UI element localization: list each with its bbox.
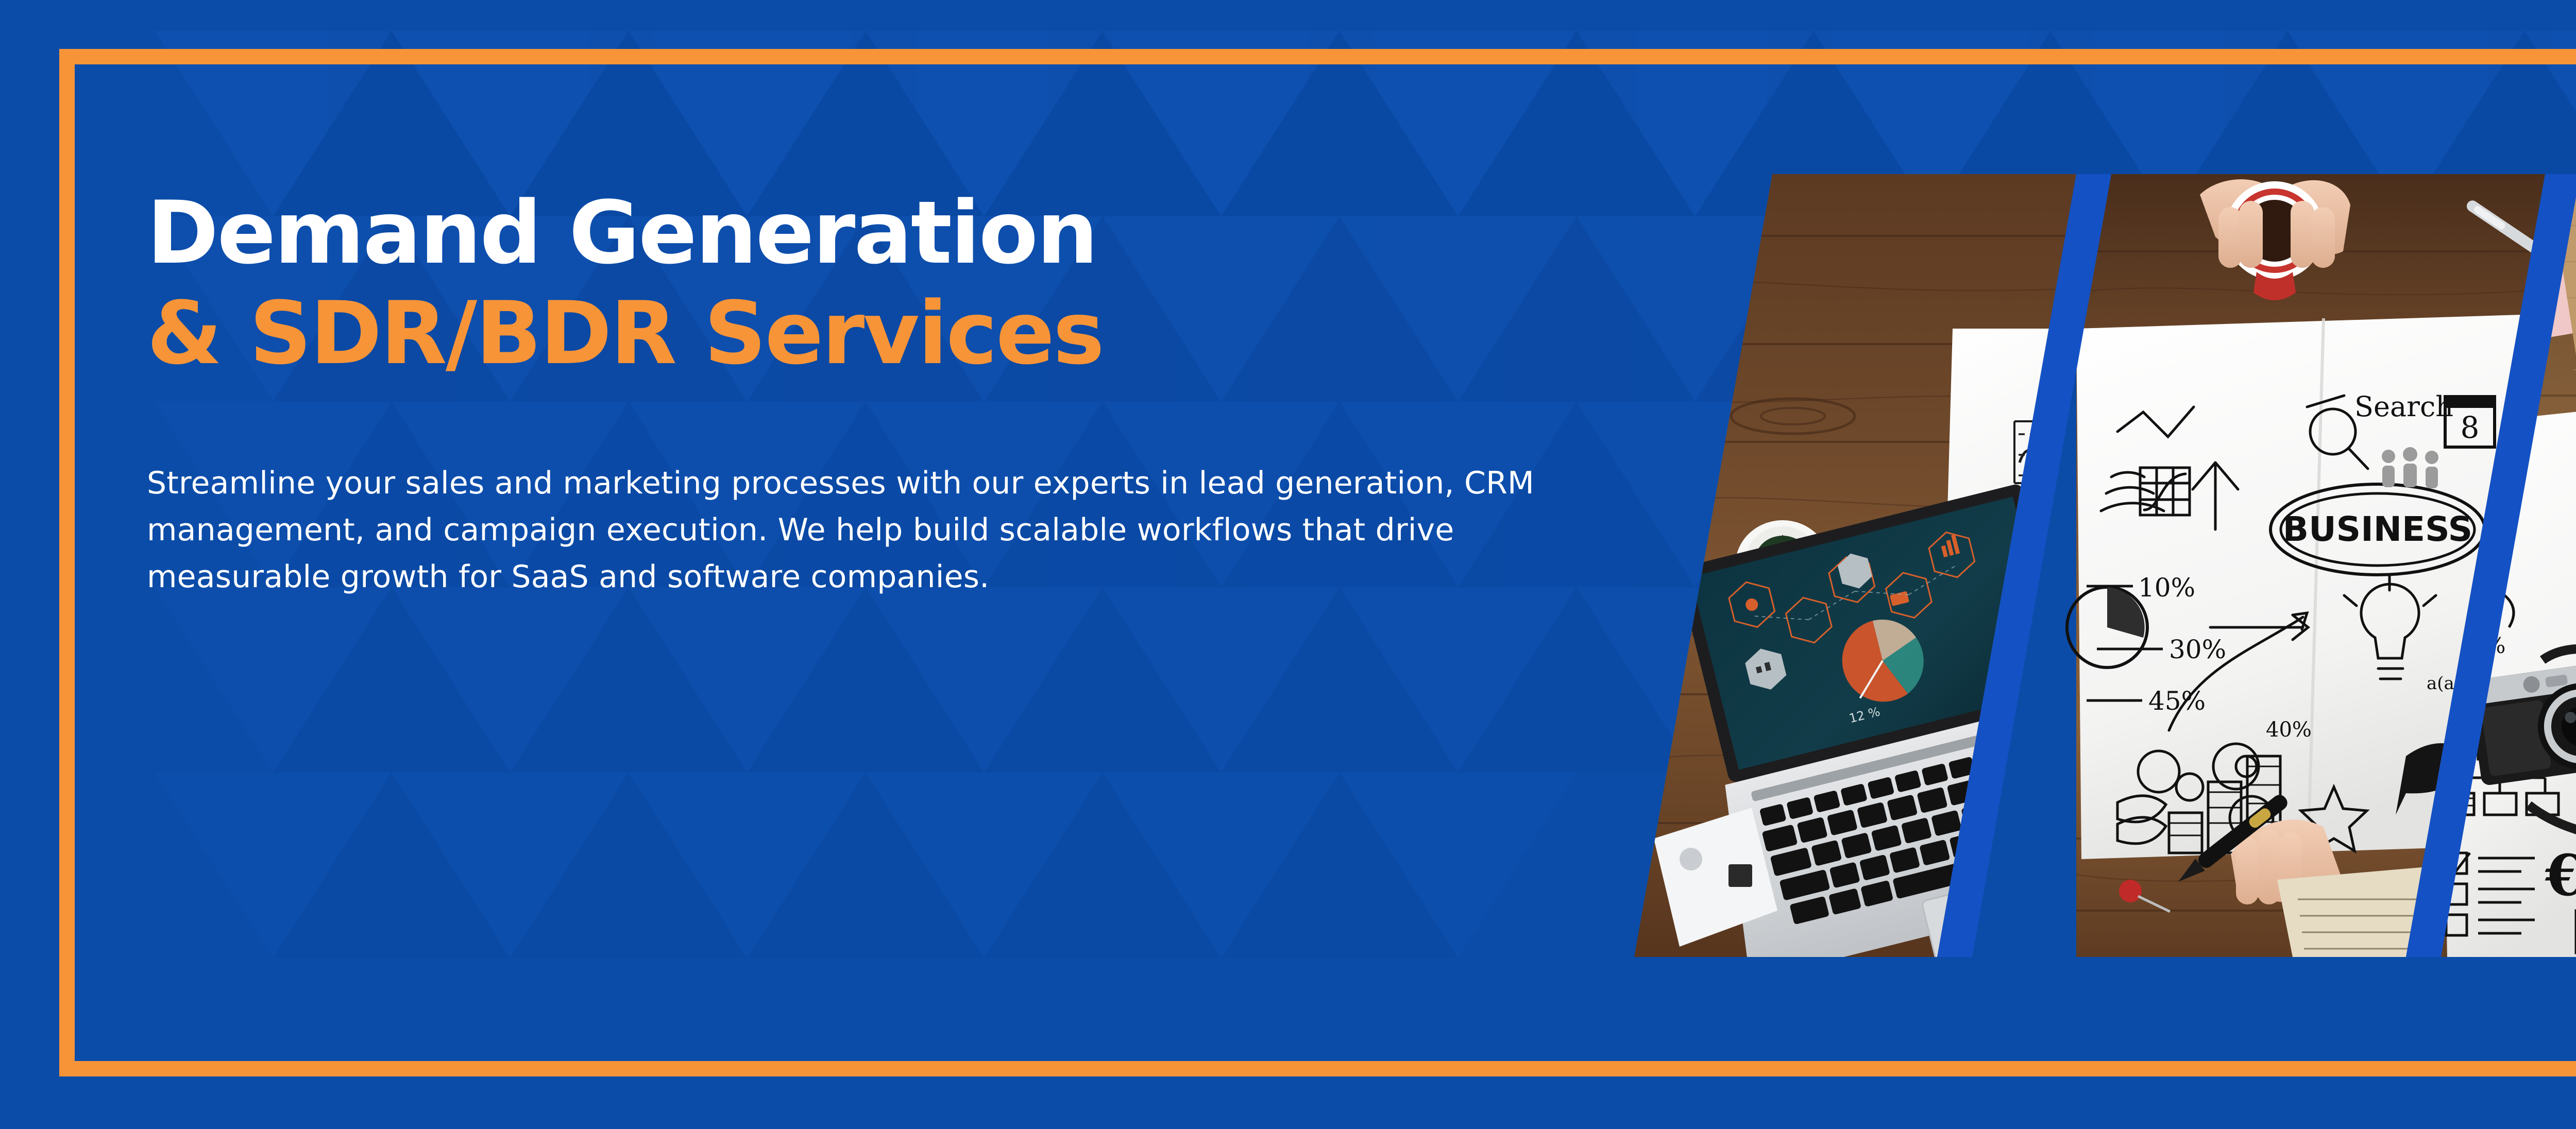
doodle-label-45pct: 45% <box>2148 686 2206 716</box>
people-icon <box>2382 447 2438 488</box>
doodle-label-30pct: 30% <box>2169 635 2226 664</box>
hero-text-column: Demand Generation & SDR/BDR Services Str… <box>147 183 1641 601</box>
doodle-calendar-number: 8 <box>2461 410 2480 445</box>
collage-svg: 20 % <box>1623 174 2576 957</box>
page-title: Demand Generation & SDR/BDR Services <box>147 183 1641 384</box>
headline-line-primary: Demand Generation <box>147 183 1641 283</box>
doodle-business-text: BUSINESS <box>2283 509 2472 549</box>
headline-line-accent: & SDR/BDR Services <box>147 283 1641 384</box>
euro-icon: € <box>2545 842 2576 909</box>
image-collage: 20 % <box>1623 174 2576 957</box>
hero-banner: Demand Generation & SDR/BDR Services Str… <box>0 0 2576 1129</box>
doodle-label-40pct: 40% <box>2266 718 2312 742</box>
doodle-label-10pct: 10% <box>2138 573 2195 603</box>
hero-subcopy: Streamline your sales and marketing proc… <box>147 460 1579 601</box>
doodle-search-text: Search <box>2354 390 2453 423</box>
